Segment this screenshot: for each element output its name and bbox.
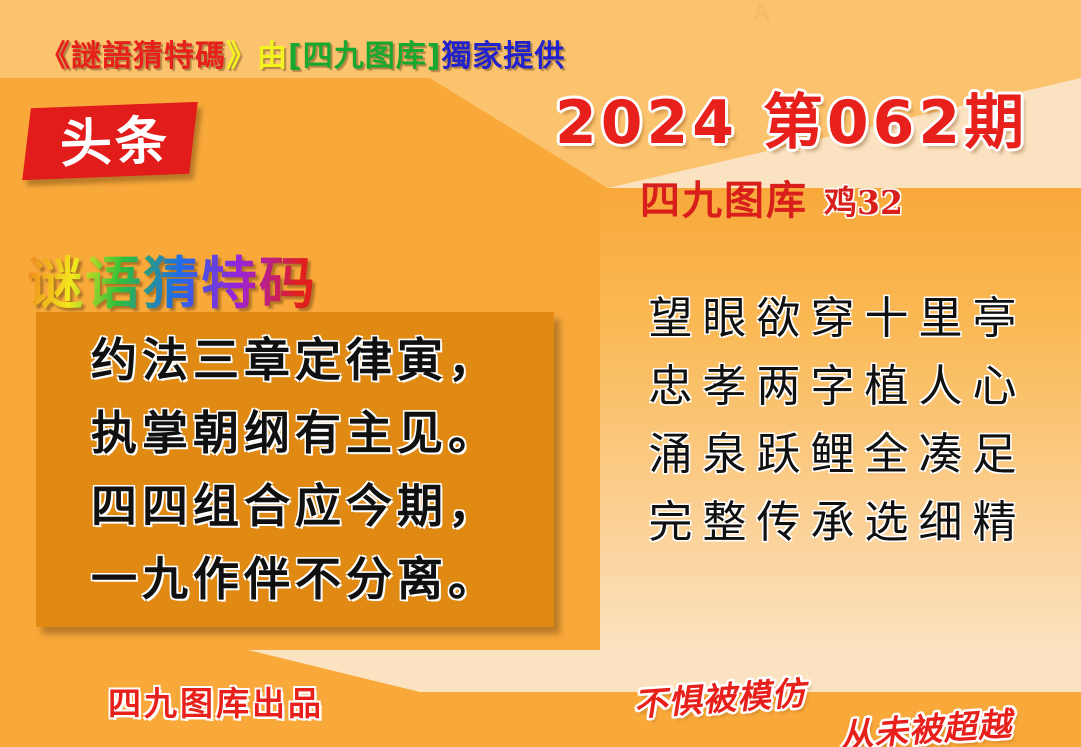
riddle-box: 约法三章定律寅， 执掌朝纲有主见。 四四组合应今期， 一九作伴不分离。 [36, 312, 554, 627]
tagline-part-2: 謎語猜特碼 [71, 31, 226, 75]
riddle-line: 执掌朝纲有主见。 [36, 397, 554, 470]
headline-badge-label: 头条 [34, 105, 197, 181]
issue-title: 2024 第062期 [555, 74, 1055, 161]
poem-block: 望眼欲穿十里亭 忠孝两字植人心 涌泉跃鲤全凑足 完整传承选细精 [610, 285, 1065, 557]
page-title: 谜语猜特码 [27, 239, 317, 320]
brand-name: 四九图库 [640, 177, 808, 224]
tagline-part-6: 四九图库 [303, 31, 427, 75]
tagline-part-1: 《 [40, 31, 71, 75]
riddle-line: 一九作伴不分离。 [36, 543, 554, 616]
brand-row: 四九图库鸡32 [640, 168, 903, 226]
poem-line: 涌泉跃鲤全凑足 [610, 421, 1065, 489]
tagline-part-5: [ [288, 39, 303, 74]
poem-line: 望眼欲穿十里亭 [610, 285, 1065, 353]
riddle-line: 四四组合应今期， [36, 470, 554, 543]
riddle-line: 约法三章定律寅， [36, 324, 554, 397]
tagline-part-4: 由 [257, 31, 288, 75]
brand-zodiac: 鸡32 [824, 183, 903, 222]
tagline-part-3: 》 [226, 31, 257, 75]
top-watermark: A [722, 0, 802, 28]
footer-brand: 四九图库出品 [108, 677, 324, 725]
tagline: 《謎語猜特碼》由 [四九图库] 獨家提供 [40, 31, 565, 75]
poster-canvas: A 《謎語猜特碼》由 [四九图库] 獨家提供 头条 2024 第062期 四九图… [0, 0, 1081, 747]
poem-line: 忠孝两字植人心 [610, 353, 1065, 421]
poem-line: 完整传承选细精 [610, 489, 1065, 557]
tagline-part-7: ] [427, 39, 442, 74]
tagline-part-8: 獨家提供 [441, 31, 565, 75]
